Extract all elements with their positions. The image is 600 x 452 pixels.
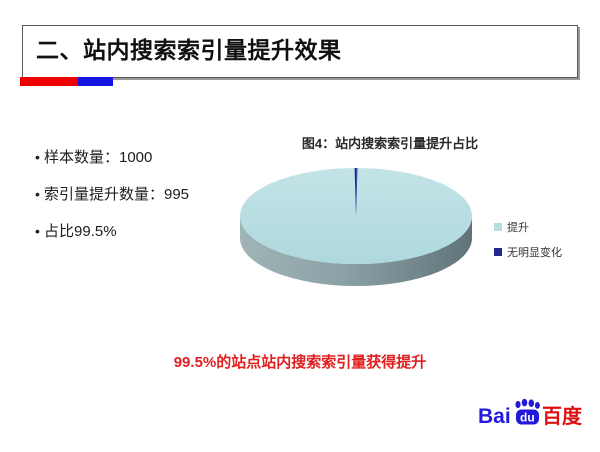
list-item-label: 样本数量：1000 [44,146,152,167]
legend-item-improved: 提升 [494,219,562,235]
baidu-logo-du: du [520,411,535,425]
bullet-dot-icon: • [35,187,44,201]
legend-item-label: 无明显变化 [507,244,562,260]
paw-print-icon [515,399,540,409]
baidu-logo: Bai du 百度 [478,399,584,429]
bullet-dot-icon: • [35,224,44,238]
legend-item-label: 提升 [507,219,529,235]
list-item-label: 索引量提升数量：995 [44,183,189,204]
legend-swatch-icon [494,223,502,231]
page-title: 二、站内搜索索引量提升效果 [36,31,342,65]
baidu-logo-cn: 百度 [542,404,583,428]
chart-legend: 提升 无明显变化 [494,219,562,269]
legend-item-no-change: 无明显变化 [494,244,562,260]
chart-title: 图4：站内搜索索引量提升占比 [250,133,530,152]
list-item: • 样本数量：1000 [35,146,250,167]
list-item: • 索引量提升数量：995 [35,183,250,204]
list-item-label: 占比99.5% [44,220,117,241]
slide-canvas: 二、站内搜索索引量提升效果 • 样本数量：1000 • 索引量提升数量：995 … [0,0,600,452]
baidu-logo-svg: Bai du 百度 [478,399,584,429]
baidu-logo-bai: Bai [478,405,511,428]
pie-chart-svg [236,160,480,290]
callout-text: 99.5%的站点站内搜索索引量获得提升 [0,351,600,372]
list-item: • 占比99.5% [35,220,250,241]
pie-chart [236,160,480,290]
accent-bar-red [20,77,78,86]
bullet-list: • 样本数量：1000 • 索引量提升数量：995 • 占比99.5% [35,146,250,257]
accent-bar-blue [78,77,113,86]
bullet-dot-icon: • [35,150,44,164]
legend-swatch-icon [494,248,502,256]
